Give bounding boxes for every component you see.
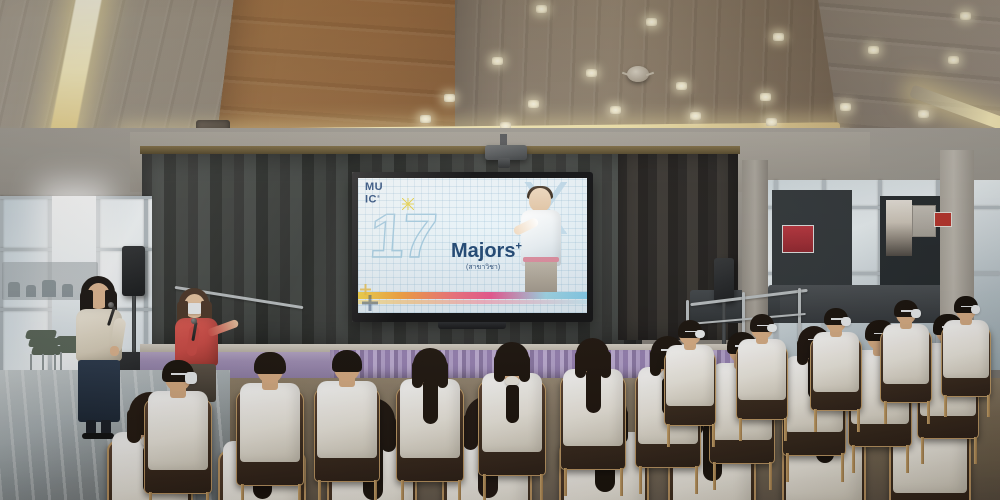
pa-speaker-left xyxy=(122,246,145,296)
mask-strap xyxy=(757,325,768,326)
mask-strap xyxy=(171,373,186,375)
pa-speaker-right xyxy=(714,258,734,302)
ponytail xyxy=(506,385,518,423)
face-mask xyxy=(841,317,850,326)
chair-leg xyxy=(401,480,404,500)
chair-leg xyxy=(927,401,930,423)
hair-side-left xyxy=(494,355,505,382)
chair-leg xyxy=(857,409,860,431)
hair-side-right xyxy=(600,351,611,377)
chair-leg xyxy=(852,445,855,473)
presentation-screen: MU IC® 17 Majors+ (สาขาวิชา) xyxy=(352,172,593,322)
chair-leg xyxy=(458,480,461,500)
mask-strap xyxy=(961,306,972,307)
chair-leg xyxy=(906,445,909,473)
chair-leg xyxy=(786,453,789,481)
hair-side-right xyxy=(437,361,448,388)
uniform-shirt xyxy=(883,324,929,384)
slide-subtitle-thai: (สาขาวิชา) xyxy=(466,262,500,273)
slide-headline-plus: + xyxy=(515,240,521,252)
chair-leg xyxy=(739,418,742,441)
hair-side-left xyxy=(575,351,586,377)
face-mask xyxy=(971,305,980,313)
ponytail xyxy=(586,369,600,413)
uniform-shirt xyxy=(240,383,300,461)
mask-strap xyxy=(901,310,912,311)
auditorium-photo: MU IC® 17 Majors+ (สาขาวิชา) xyxy=(0,0,1000,500)
wall-standee xyxy=(886,200,912,256)
chair-leg xyxy=(841,453,844,481)
chair-leg xyxy=(540,474,543,500)
slide-illustration-person xyxy=(519,188,565,298)
uniform-shirt xyxy=(738,339,786,401)
pa-speaker-left-stand xyxy=(132,296,136,358)
screen-mount-bracket xyxy=(438,322,506,329)
chair-leg xyxy=(298,484,301,500)
uniform-shirt xyxy=(148,391,208,469)
uniform-shirt xyxy=(943,320,988,379)
mask-strap xyxy=(831,318,842,319)
fire-alarm-icon xyxy=(934,212,952,227)
chair-leg xyxy=(483,474,486,500)
face-mask xyxy=(911,309,920,318)
logo-line-1: MU xyxy=(365,181,383,193)
ponytail xyxy=(423,379,438,424)
projector-lens-icon xyxy=(498,158,510,168)
hair-side-left xyxy=(650,349,661,375)
hair-short xyxy=(254,352,285,374)
hair-side-left xyxy=(412,361,423,388)
wall-poster-red xyxy=(782,225,814,253)
logo-registered-mark: ® xyxy=(377,194,380,199)
hair-side-right xyxy=(381,416,396,452)
chair-leg xyxy=(713,462,716,491)
smoke-detector-icon xyxy=(627,66,649,82)
chair-leg xyxy=(944,395,947,417)
curtain-track xyxy=(140,146,740,154)
face-mask xyxy=(185,372,197,383)
hair-side-left xyxy=(463,414,478,450)
chair-leg xyxy=(149,492,152,500)
uniform-shirt xyxy=(317,381,376,458)
chair-leg xyxy=(639,466,642,495)
mask-strap xyxy=(685,331,696,332)
chair-leg xyxy=(374,480,377,500)
chair-leg xyxy=(318,480,321,500)
hair-short xyxy=(332,350,363,372)
chair-leg xyxy=(695,466,698,495)
uniform-shirt xyxy=(813,332,859,392)
hair-side-left xyxy=(797,339,808,365)
chair-leg xyxy=(667,424,670,447)
chair-leg xyxy=(921,437,924,464)
chair-leg xyxy=(712,424,715,447)
plus-accent-icon-navy xyxy=(362,295,378,311)
chair-leg xyxy=(206,492,209,500)
hair-side-left xyxy=(127,409,141,443)
slide-content: MU IC® 17 Majors+ (สาขาวิชา) xyxy=(358,178,587,313)
slide-headline-text: Majors xyxy=(451,240,515,262)
uniform-shirt xyxy=(666,345,714,407)
chair-leg xyxy=(974,437,977,464)
chair-leg xyxy=(884,401,887,423)
illustration-head xyxy=(529,188,551,212)
chair-leg xyxy=(241,484,244,500)
chair-leg xyxy=(784,418,787,441)
plus-accent-icon-yellow xyxy=(360,284,371,295)
chair-leg xyxy=(769,462,772,491)
slide-headline: Majors+ xyxy=(451,240,522,263)
chair-leg xyxy=(620,468,623,497)
slide-gradient-bar xyxy=(358,292,587,299)
wall-control-panel xyxy=(912,205,936,237)
illustration-skirt xyxy=(525,262,557,292)
chair-leg xyxy=(564,468,567,497)
chair-leg xyxy=(987,395,990,417)
hair-side-right xyxy=(519,355,530,382)
slide-gradient-bar-secondary xyxy=(358,300,587,304)
slide-number-17: 17 xyxy=(368,206,437,268)
chair-leg xyxy=(814,409,817,431)
